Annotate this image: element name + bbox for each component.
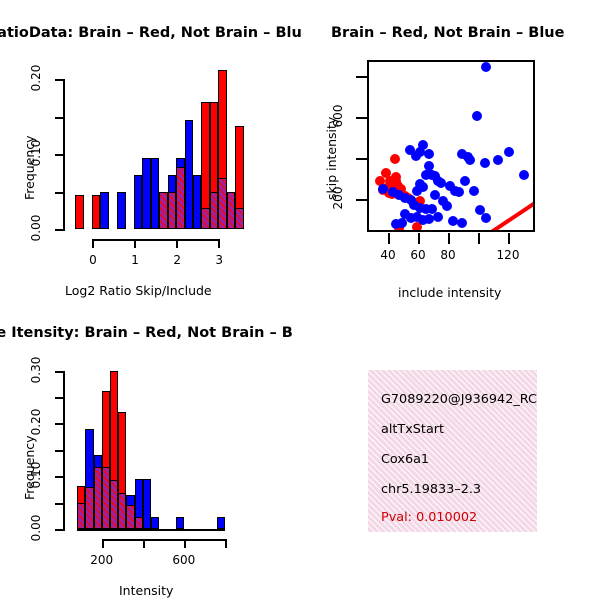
x-tick — [418, 233, 420, 244]
x-tick-label: 60 — [403, 248, 433, 262]
scatter-point — [481, 213, 491, 223]
histogram-bar — [143, 479, 151, 529]
x-tick-label: 120 — [493, 248, 523, 262]
y-tick-label: 0.00 — [29, 513, 43, 543]
x-tick-label: 40 — [373, 248, 403, 262]
x-tick — [176, 239, 178, 248]
histogram-bar-overlap — [176, 167, 184, 229]
x-tick-label: 0 — [80, 253, 106, 267]
y-tick — [55, 192, 64, 194]
scatter-point — [493, 155, 503, 165]
scatter-point — [433, 212, 443, 222]
scatter-point — [460, 176, 470, 186]
gene-info-box: G7089220@J936942_RC altTxStart Cox6a1 ch… — [368, 370, 537, 532]
scatter-plot-frame — [367, 60, 535, 232]
histogram-bar-overlap — [218, 178, 226, 229]
y-tick — [356, 76, 367, 78]
scatter-point — [481, 62, 491, 72]
scatter-point — [465, 155, 475, 165]
intensity-histogram-plot-area: 0.000.100.200.30200600 — [0, 300, 300, 600]
x-tick — [143, 539, 145, 548]
x-tick-label: 1 — [122, 253, 148, 267]
y-tick-label: 0.20 — [29, 407, 43, 437]
x-tick-label: 200 — [84, 553, 120, 567]
histogram-bar — [75, 195, 83, 229]
y-tick-label: 200 — [331, 183, 345, 213]
x-axis-line — [92, 239, 220, 241]
info-event-type: altTxStart — [381, 422, 444, 437]
histogram-bar-overlap — [227, 192, 235, 229]
scatter-point — [480, 158, 490, 168]
scatter-point — [424, 149, 434, 159]
y-tick — [55, 423, 64, 425]
x-tick-label: 3 — [206, 253, 232, 267]
histogram-bar — [193, 175, 201, 229]
histogram-bar — [100, 192, 108, 229]
x-tick-label: 80 — [433, 248, 463, 262]
histogram-bar — [151, 158, 159, 229]
histogram-bar — [142, 158, 150, 229]
x-tick — [448, 233, 450, 244]
x-tick — [508, 233, 510, 244]
histogram-bar — [134, 175, 142, 229]
histogram-bar-overlap — [201, 208, 209, 229]
y-tick — [55, 503, 64, 505]
y-tick-label: 0.00 — [29, 213, 43, 243]
histogram-bar-overlap — [118, 493, 126, 529]
figure-canvas: RatioData: Brain – Red, Not Brain – Blu … — [0, 0, 600, 600]
y-tick — [356, 199, 367, 201]
histogram-bar-overlap — [135, 517, 143, 529]
x-tick-label: 600 — [166, 553, 202, 567]
y-tick — [55, 229, 64, 231]
y-tick — [55, 79, 64, 81]
panel-ratio-histogram: RatioData: Brain – Red, Not Brain – Blu … — [0, 0, 300, 300]
histogram-bar-overlap — [210, 192, 218, 229]
histogram-bar-overlap — [168, 192, 176, 229]
scatter-point — [454, 187, 464, 197]
y-tick — [55, 476, 64, 478]
scatter-point — [378, 184, 388, 194]
x-tick — [92, 239, 94, 248]
histogram-baseline — [77, 529, 225, 531]
scatter-point — [411, 151, 421, 161]
x-tick-label: 2 — [164, 253, 190, 267]
x-tick — [388, 233, 390, 244]
ratio-histogram-plot-area: 0.000.100.200123 — [0, 0, 300, 300]
x-tick — [225, 539, 227, 548]
y-tick — [55, 154, 64, 156]
histogram-bar — [176, 517, 184, 529]
info-gene-symbol: Cox6a1 — [381, 452, 429, 467]
histogram-bar-overlap — [77, 503, 85, 529]
scatter-point — [519, 170, 529, 180]
y-tick — [55, 529, 64, 531]
y-tick-label: 0.10 — [29, 138, 43, 168]
y-tick-label: 600 — [331, 101, 345, 131]
y-tick — [55, 397, 64, 399]
histogram-bar — [185, 120, 193, 229]
x-tick — [134, 239, 136, 248]
y-tick — [356, 117, 367, 119]
histogram-bar — [151, 517, 159, 529]
info-pvalue: Pval: 0.010002 — [381, 510, 477, 525]
x-tick — [478, 233, 480, 244]
scatter-point — [504, 147, 514, 157]
scatter-point — [457, 218, 467, 228]
panel-scatter: Brain – Red, Not Brain – Blue skip inten… — [300, 0, 600, 300]
y-tick-label: 0.10 — [29, 460, 43, 490]
scatter-point — [397, 218, 407, 228]
histogram-bar-overlap — [159, 192, 167, 229]
x-tick — [102, 539, 104, 548]
histogram-bar-overlap — [126, 505, 134, 529]
scatter-point — [469, 186, 479, 196]
info-locus: chr5.19833–2.3 — [381, 482, 481, 497]
panel-info: G7089220@J936942_RC altTxStart Cox6a1 ch… — [300, 300, 600, 600]
histogram-bar-overlap — [235, 208, 243, 229]
scatter-point — [412, 186, 422, 196]
scatter-point — [442, 201, 452, 211]
histogram-bar-overlap — [85, 487, 93, 529]
histogram-bar-overlap — [94, 467, 102, 529]
y-tick-label: 0.30 — [29, 355, 43, 385]
x-tick — [218, 239, 220, 248]
scatter-point — [472, 111, 482, 121]
y-tick — [55, 450, 64, 452]
y-tick-label: 0.20 — [29, 63, 43, 93]
scatter-plot-area: 200600406080120 — [300, 0, 600, 300]
scatter-point — [391, 172, 401, 182]
y-tick — [55, 371, 64, 373]
scatter-point — [381, 168, 391, 178]
info-probe-id: G7089220@J936942_RC — [381, 392, 537, 407]
panel-intensity-histogram: ne Itensity: Brain – Red, Not Brain – B … — [0, 300, 300, 600]
histogram-bar — [92, 195, 100, 229]
histogram-bar-overlap — [102, 467, 110, 529]
histogram-bar — [217, 517, 225, 529]
x-axis-line — [102, 539, 227, 541]
histogram-bar-overlap — [110, 480, 118, 529]
y-tick — [55, 117, 64, 119]
scatter-point — [388, 187, 398, 197]
histogram-bar — [117, 192, 125, 229]
x-tick — [184, 539, 186, 548]
scatter-point — [390, 154, 400, 164]
y-tick — [356, 158, 367, 160]
